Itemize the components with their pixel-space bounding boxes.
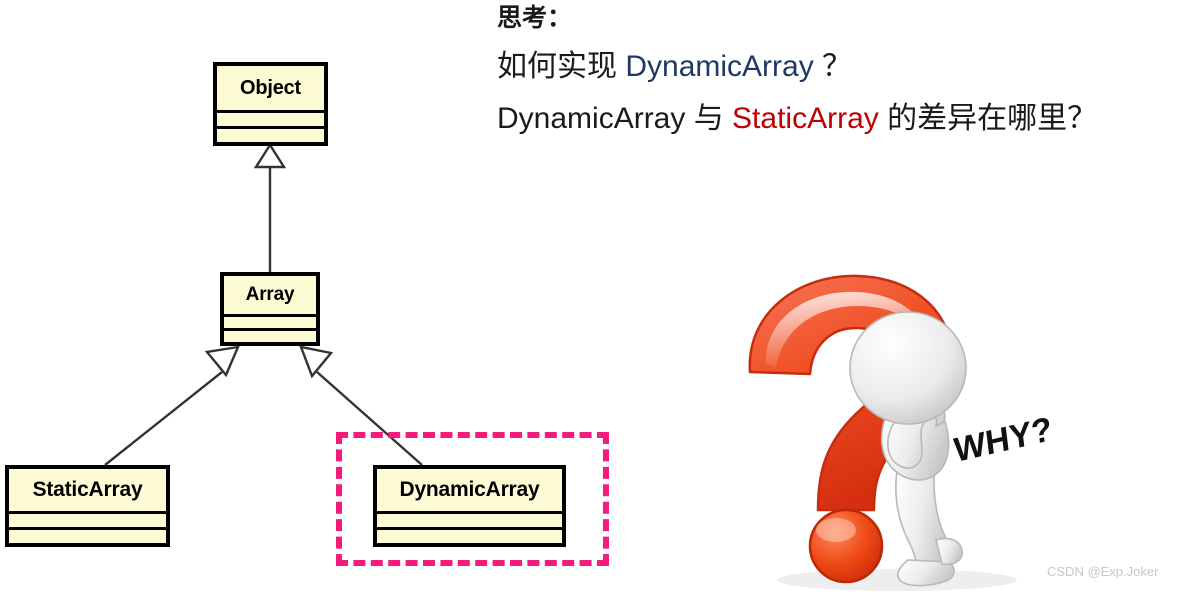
uml-attributes-compartment (217, 110, 324, 126)
watermark: CSDN @Exp.Joker (1047, 564, 1158, 579)
edge-staticarray-to-array (105, 347, 238, 465)
uml-operations-compartment (224, 328, 316, 342)
question-line-1-prefix: 如何实现 (497, 50, 625, 83)
question-line-2-conjunction: 与 (685, 102, 732, 135)
ground-shadow (777, 569, 1017, 591)
uml-class-name: DynamicArray (377, 469, 562, 511)
uml-class-name: StaticArray (9, 469, 166, 511)
uml-operations-compartment (377, 527, 562, 543)
question-heading: 思考： (497, 6, 1181, 31)
question-mark-dot-gloss (816, 518, 856, 542)
uml-class-name: Array (224, 276, 316, 314)
question-line-2-term-staticarray: StaticArray (732, 102, 879, 135)
question-line-2: DynamicArray 与 StaticArray 的差异在哪里？ (497, 104, 1181, 134)
question-line-2-suffix: 的差异在哪里？ (879, 102, 1097, 135)
edge-array-to-object (256, 145, 284, 272)
uml-class-name: Object (217, 66, 324, 110)
question-line-1: 如何实现 DynamicArray ？ (497, 52, 1181, 82)
thinking-figure-illustration: WHY? (722, 268, 1052, 594)
figure-head (850, 312, 966, 424)
uml-class-dynamicarray[interactable]: DynamicArray (373, 465, 566, 547)
uml-attributes-compartment (224, 314, 316, 328)
uml-attributes-compartment (9, 511, 166, 527)
uml-class-array[interactable]: Array (220, 272, 320, 346)
uml-class-object[interactable]: Object (213, 62, 328, 146)
question-line-2-term-dynamicarray: DynamicArray (497, 102, 685, 135)
question-line-1-suffix: ？ (814, 50, 852, 83)
why-caption-text: WHY? (952, 410, 1052, 470)
question-line-1-term-dynamicarray: DynamicArray (625, 50, 813, 83)
uml-class-staticarray[interactable]: StaticArray (5, 465, 170, 547)
question-text-block: 思考： 如何实现 DynamicArray ？ DynamicArray 与 S… (497, 0, 1181, 134)
uml-attributes-compartment (377, 511, 562, 527)
why-caption: WHY? (948, 410, 1052, 470)
uml-operations-compartment (217, 126, 324, 142)
uml-operations-compartment (9, 527, 166, 543)
